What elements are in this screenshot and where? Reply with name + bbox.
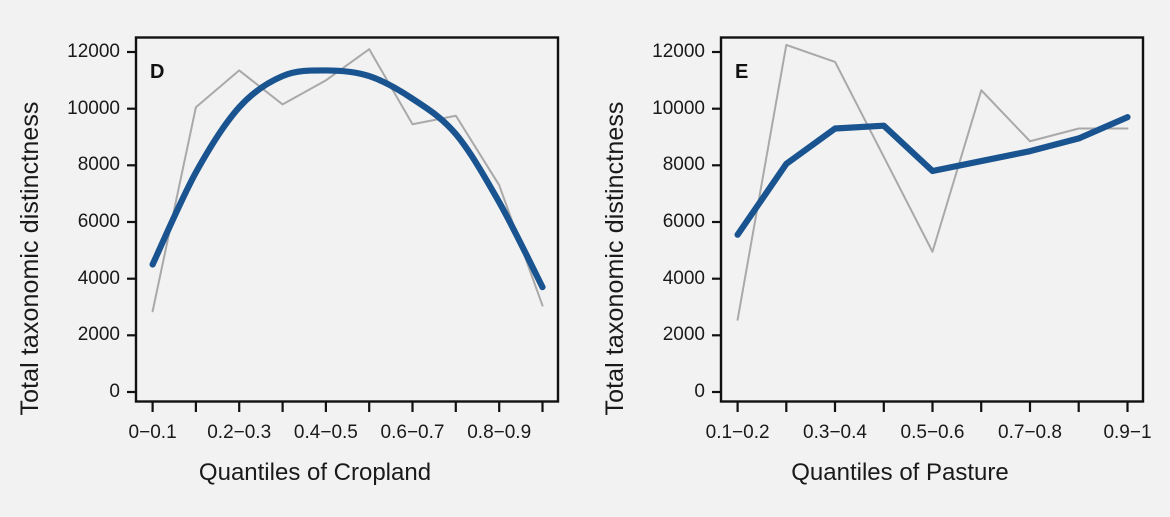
panel-d-ytick-10000: 10000 [48,98,120,120]
panel-d-ytick-6000: 6000 [58,211,120,233]
panel-d-ytick-0: 0 [58,381,120,403]
panel-d-xtick-3: 0.2−0.3 [207,422,271,444]
panel-e-ytick-0: 0 [643,381,705,403]
panel-d-xlabel: Quantiles of Cropland [60,459,570,487]
panel-d-xtick-7: 0.6−0.7 [381,422,445,444]
panel-d-ytick-12000: 12000 [48,41,120,63]
panel-e-xtick-9: 0.9−1 [1103,422,1151,444]
panel-d-x-ticks [153,402,543,413]
panel-e-y-ticks [712,52,721,392]
panel-e-observed-line [738,45,1128,320]
panel-e-x-ticks [738,402,1128,413]
panel-e-fitted-line [738,117,1128,235]
panel-d-xtick-1: 0−0.1 [129,422,177,444]
panel-d: Total taxonomic distinctness [0,0,585,517]
panel-e-xtick-5: 0.5−0.6 [901,422,965,444]
panel-e-ytick-10000: 10000 [633,98,705,120]
panel-e-ytick-4000: 4000 [643,268,705,290]
panel-e-plot: E [585,0,1170,517]
panel-d-xtick-5: 0.4−0.5 [294,422,358,444]
panel-e-ytick-6000: 6000 [643,211,705,233]
panel-d-xtick-9: 0.8−0.9 [467,422,531,444]
panel-e-tag-text: E [735,61,748,83]
panel-e-xtick-7: 0.7−0.8 [998,422,1062,444]
panel-d-tag-text: D [150,61,164,83]
panel-d-fitted-line [153,70,543,287]
panel-d-ytick-2000: 2000 [58,324,120,346]
panel-d-plot-frame [136,38,558,402]
panel-e-plot-frame [721,38,1143,402]
panel-e-ytick-12000: 12000 [633,41,705,63]
panel-e: Total taxonomic distinctness [585,0,1170,517]
panel-e-ytick-2000: 2000 [643,324,705,346]
panel-e-xtick-3: 0.3−0.4 [803,422,867,444]
panel-e-xlabel: Quantiles of Pasture [645,459,1155,487]
panel-d-y-ticks [127,52,136,392]
panel-e-xtick-1: 0.1−0.2 [706,422,770,444]
panel-e-ytick-8000: 8000 [643,154,705,176]
panel-d-ytick-8000: 8000 [58,154,120,176]
panel-d-ytick-4000: 4000 [58,268,120,290]
figure-container: Total taxonomic distinctness [0,0,1170,517]
